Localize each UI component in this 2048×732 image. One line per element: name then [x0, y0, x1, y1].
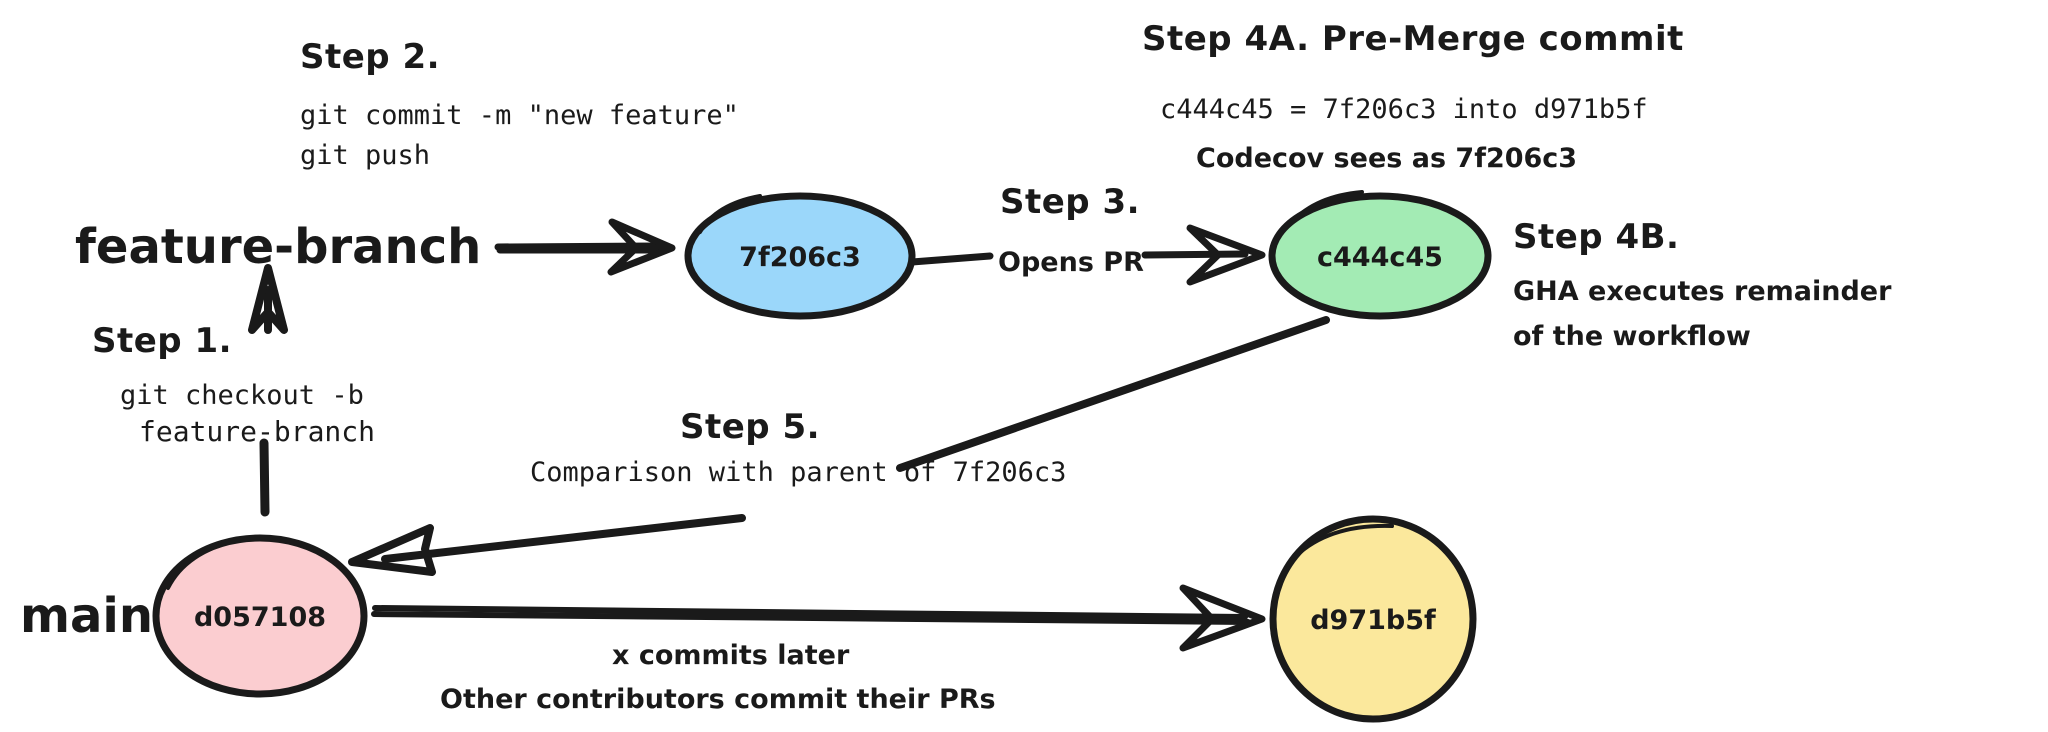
step-1-title: Step 1. [92, 321, 232, 361]
step-4a-title: Step 4A. Pre-Merge commit [1142, 19, 1684, 59]
step-3-title: Step 3. [1000, 182, 1140, 222]
node-label-d057108: d057108 [194, 602, 326, 633]
edge-d057108-to-featurebranch [264, 443, 265, 512]
node-label-7f206c3: 7f206c3 [739, 242, 861, 273]
step-4a-line-mono: c444c45 = 7f206c3 into d971b5f [1160, 94, 1648, 125]
step-2-title: Step 2. [300, 37, 440, 77]
edge-c444c45-to-d057108 [352, 320, 1326, 572]
step-5-annotation: Step 5. Comparison with parent of 7f206c… [530, 407, 1066, 488]
diagram-canvas: 7f206c3 c444c45 d057108 d971b5f feature-… [0, 0, 2048, 732]
step-4b-annotation: Step 4B. GHA executes remainder of the w… [1513, 217, 1892, 352]
step-5-line-1: Comparison with parent of 7f206c3 [530, 457, 1066, 488]
step-2-line-2: git push [300, 140, 430, 171]
node-label-d971b5f: d971b5f [1310, 605, 1436, 636]
bottom-captions: x commits later Other contributors commi… [440, 640, 996, 715]
edge-step1-up-arrow [252, 268, 284, 330]
git-flow-diagram: 7f206c3 c444c45 d057108 d971b5f feature-… [0, 0, 2048, 732]
node-d971b5f[interactable]: d971b5f [1273, 519, 1473, 719]
step-1-line-1: git checkout -b [120, 380, 364, 411]
step-4a-annotation: Step 4A. Pre-Merge commit c444c45 = 7f20… [1142, 19, 1684, 174]
node-c444c45[interactable]: c444c45 [1272, 192, 1488, 316]
branch-label-feature-small: feature-branch [139, 415, 375, 448]
step-2-line-1: git commit -m "new feature" [300, 100, 739, 131]
step-4b-line-1: GHA executes remainder [1513, 276, 1892, 307]
step-2-annotation: Step 2. git commit -m "new feature" git … [300, 37, 739, 171]
node-label-c444c45: c444c45 [1317, 242, 1443, 273]
step-1-annotation: Step 1. git checkout -b [92, 321, 364, 411]
step-3-annotation: Step 3. Opens PR [998, 182, 1144, 278]
edge-featurebranch-to-7f206c3 [498, 222, 672, 272]
step-4a-line-hand: Codecov sees as 7f206c3 [1196, 143, 1577, 174]
edge-d057108-to-d971b5f [374, 588, 1262, 648]
branch-label-main: main [20, 588, 153, 644]
step-4b-title: Step 4B. [1513, 217, 1679, 257]
caption-other-contributors: Other contributors commit their PRs [440, 684, 996, 715]
caption-commits-later: x commits later [612, 640, 850, 671]
node-d057108[interactable]: d057108 [156, 538, 364, 694]
branch-label-feature: feature-branch [75, 219, 481, 275]
step-3-line-1: Opens PR [998, 247, 1144, 278]
step-5-title: Step 5. [680, 407, 820, 447]
step-4b-line-2: of the workflow [1513, 321, 1751, 352]
node-7f206c3[interactable]: 7f206c3 [688, 196, 912, 316]
